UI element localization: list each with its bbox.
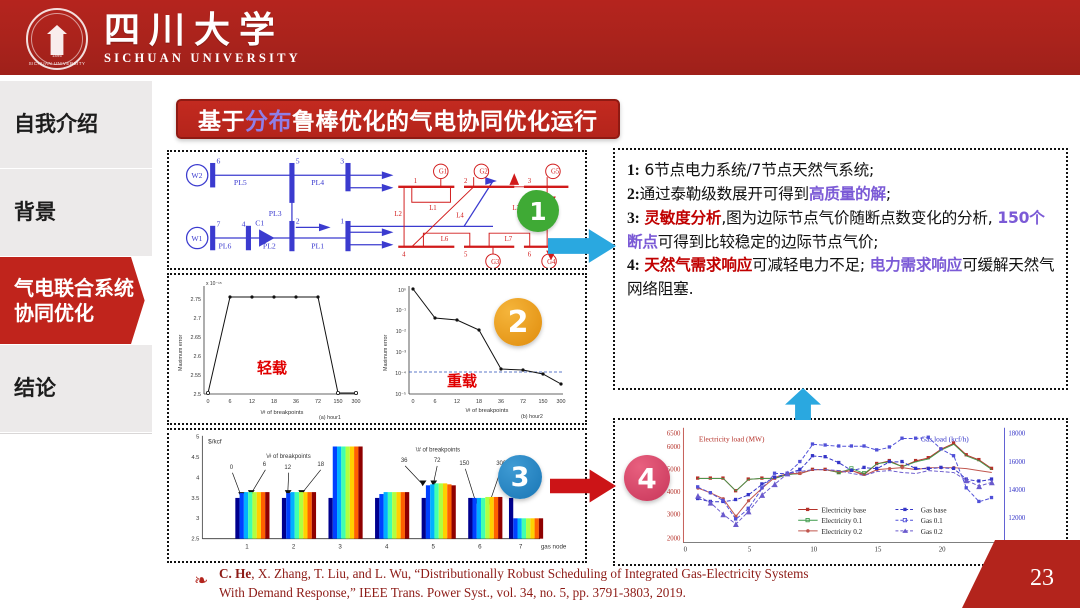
citation: C. He, X. Zhang, T. Liu, and L. Wu, “Dis…: [219, 564, 1009, 602]
svg-text:\# of breakpoints: \# of breakpoints: [266, 454, 310, 460]
svg-text:Maximum error: Maximum error: [383, 335, 389, 371]
light-load-caption: (a) hour1: [319, 415, 341, 421]
svg-text:2.55: 2.55: [191, 373, 202, 379]
sidebar-item-label: 自我介绍: [14, 112, 98, 138]
svg-text:Gas 0.1: Gas 0.1: [921, 517, 943, 525]
step-badge-4: 4: [624, 455, 670, 501]
svg-text:5: 5: [432, 543, 436, 550]
bar-group-node-6: [468, 497, 502, 539]
finding-text: 可得到比较稳定的边际节点气价;: [658, 233, 879, 251]
seal-year: 1896: [52, 53, 62, 58]
brand-name-cn: 四川大学: [104, 12, 301, 50]
svg-text:PL1: PL1: [311, 242, 324, 251]
flow-arrow: [382, 184, 394, 192]
sidebar-item-label: 背景: [14, 200, 56, 226]
light-load-error-chart-svg: 2.52.552.6 2.652.72.75 x 10⁻¹⁵ Maximum e…: [172, 276, 377, 424]
load-chart-legend: Electricity base Electricity 0.1 Electri…: [798, 506, 946, 535]
svg-text:12000: 12000: [1008, 515, 1026, 522]
svg-text:20: 20: [939, 546, 946, 553]
svg-text:G4: G4: [547, 259, 556, 266]
heavy-load-error-chart-svg: 10⁰10⁻¹10⁻² 10⁻³10⁻⁴10⁻⁵ Maximum error 0…: [377, 276, 582, 424]
svg-text:6: 6: [478, 543, 482, 550]
svg-text:18: 18: [476, 399, 482, 405]
svg-text:PL3: PL3: [269, 209, 282, 218]
citation-marker-icon: ❧: [194, 571, 208, 591]
bar-group-node-5: [422, 483, 456, 538]
svg-text:3: 3: [528, 178, 532, 185]
finding-item-4: 4: 天然气需求响应可减轻电力不足; 电力需求响应可缓解天然气网络阻塞.: [627, 254, 1055, 302]
svg-text:15: 15: [875, 546, 882, 553]
sidebar-nav: 自我介绍 背景 气电联合系统协同优化 结论: [0, 81, 152, 608]
heavy-load-caption: (b) hour2: [521, 414, 543, 420]
sidebar-item-label: 气电联合系统协同优化: [14, 276, 152, 325]
svg-text:Gas 0.2: Gas 0.2: [921, 528, 943, 536]
svg-text:Electricity 0.2: Electricity 0.2: [822, 528, 863, 536]
flow-arrow: [382, 171, 394, 179]
sidebar-item-gas-electricity-optimization[interactable]: 气电联合系统协同优化: [0, 257, 152, 345]
svg-text:PL5: PL5: [234, 178, 247, 187]
svg-text:72: 72: [315, 399, 321, 405]
step-badge-3: 3: [498, 455, 542, 499]
bar-group-node-7: [509, 498, 543, 539]
finding-number: 3:: [627, 210, 640, 227]
svg-text:6500: 6500: [667, 431, 681, 438]
step-badge-2: 2: [494, 298, 542, 346]
svg-text:W1: W1: [191, 234, 202, 243]
svg-text:6: 6: [229, 399, 232, 405]
svg-text:Electricity 0.1: Electricity 0.1: [822, 517, 863, 525]
svg-text:\# of breakpoints: \# of breakpoints: [416, 447, 460, 453]
svg-text:10⁻²: 10⁻²: [396, 329, 407, 335]
svg-text:6000: 6000: [667, 444, 681, 451]
svg-text:0: 0: [412, 399, 415, 405]
svg-text:\# of breakpoints: \# of breakpoints: [261, 410, 304, 416]
step-badge-1: 1: [517, 190, 559, 232]
svg-text:2.7: 2.7: [194, 316, 202, 322]
page-title: 基于分布鲁棒优化的气电协同优化运行: [198, 102, 598, 136]
slide-title-banner: 基于分布鲁棒优化的气电协同优化运行: [176, 99, 620, 139]
flow-arrow: [382, 241, 394, 249]
finding-item-2: 2:通过泰勒级数展开可得到高质量的解;: [627, 183, 1055, 207]
svg-text:L4: L4: [456, 213, 464, 220]
svg-text:2.5: 2.5: [191, 537, 199, 543]
bar-group-node-1: [235, 492, 269, 539]
svg-text:10: 10: [810, 546, 817, 553]
svg-text:L1: L1: [429, 205, 437, 212]
svg-text:150: 150: [459, 461, 470, 467]
svg-text:2.65: 2.65: [191, 335, 202, 341]
findings-text-panel: 1: 6节点电力系统/7节点天然气系统; 2:通过泰勒级数展开可得到高质量的解;…: [613, 148, 1068, 390]
finding-number: 1:: [627, 162, 640, 179]
light-load-label: 轻载: [257, 357, 287, 378]
svg-text:1: 1: [245, 543, 249, 550]
svg-text:5: 5: [296, 157, 300, 166]
svg-text:14000: 14000: [1008, 487, 1026, 494]
finding-highlight-purple: 高质量的解: [809, 185, 886, 203]
svg-text:12: 12: [454, 399, 460, 405]
findings-list: 1: 6节点电力系统/7节点天然气系统; 2:通过泰勒级数展开可得到高质量的解;…: [615, 150, 1066, 302]
svg-text:10⁻³: 10⁻³: [396, 350, 407, 356]
citation-author: C. He: [219, 566, 251, 581]
svg-text:L6: L6: [441, 236, 449, 243]
svg-text:5: 5: [196, 435, 199, 441]
svg-text:2: 2: [292, 543, 296, 550]
svg-text:36: 36: [401, 458, 408, 464]
svg-text:4: 4: [196, 475, 200, 481]
brand-name-en: SICHUAN UNIVERSITY: [104, 51, 301, 66]
svg-text:5: 5: [748, 546, 752, 553]
svg-text:18000: 18000: [1008, 431, 1026, 438]
slide-header: 1896 SICHUAN UNIVERSITY 四川大学 SICHUAN UNI…: [0, 0, 1080, 78]
svg-text:0: 0: [684, 546, 688, 553]
citation-line1: , X. Zhang, T. Liu, and L. Wu, “Distribu…: [251, 566, 808, 581]
svg-text:6: 6: [217, 157, 221, 166]
university-seal-icon: 1896 SICHUAN UNIVERSITY: [26, 8, 88, 70]
svg-text:4000: 4000: [667, 489, 681, 496]
citation-line2: With Demand Response,” IEEE Trans. Power…: [219, 583, 1009, 602]
svg-text:10⁰: 10⁰: [398, 288, 406, 294]
bar-group-node-2: [282, 492, 316, 539]
flow-arrow: [382, 228, 394, 236]
breakpoint-error-charts-panel: 2.52.552.6 2.652.72.75 x 10⁻¹⁵ Maximum e…: [167, 273, 587, 425]
svg-text:Maximum error: Maximum error: [178, 335, 184, 371]
finding-number: 2:: [627, 186, 640, 203]
title-suffix: 鲁棒优化的气电协同优化运行: [292, 109, 598, 135]
svg-text:7: 7: [519, 543, 523, 550]
arrow-up-to-text-icon: [785, 388, 821, 420]
svg-text:6: 6: [263, 462, 267, 468]
finding-highlight-red: 灵敏度分析: [644, 209, 721, 227]
svg-text:72: 72: [434, 458, 441, 464]
svg-text:6: 6: [528, 251, 532, 258]
svg-text:2000: 2000: [667, 536, 681, 543]
bar-group-node-3: [328, 446, 362, 538]
sidebar-item-background[interactable]: 背景: [0, 169, 152, 257]
svg-text:$/kcf: $/kcf: [208, 439, 222, 446]
svg-text:PL2: PL2: [263, 242, 276, 251]
svg-text:4: 4: [385, 543, 389, 550]
svg-text:18: 18: [271, 399, 277, 405]
svg-text:2: 2: [296, 217, 300, 226]
svg-text:PL4: PL4: [311, 178, 324, 187]
svg-text:2.5: 2.5: [194, 392, 202, 398]
svg-text:G5: G5: [551, 168, 560, 175]
load-arrow-up: [509, 173, 519, 185]
svg-text:L7: L7: [505, 236, 513, 243]
sidebar-item-self-intro[interactable]: 自我介绍: [0, 81, 152, 169]
svg-text:4: 4: [402, 251, 406, 258]
svg-text:72: 72: [520, 399, 526, 405]
svg-text:18: 18: [317, 462, 324, 468]
finding-text: 可减轻电力不足;: [752, 256, 870, 274]
svg-text:\# of breakpoints: \# of breakpoints: [466, 408, 509, 414]
finding-highlight-purple: 电力需求响应: [870, 256, 962, 274]
title-prefix: 基于: [198, 109, 245, 135]
series-gas-02: [698, 470, 992, 524]
svg-text:0: 0: [207, 399, 210, 405]
flow-arrow: [319, 224, 331, 232]
finding-item-3: 3: 灵敏度分析,图为边际节点气价随断点数变化的分析, 150个断点可得到比较稳…: [627, 207, 1055, 255]
finding-number: 4:: [627, 257, 640, 274]
page-number: 23: [1030, 565, 1054, 592]
sidebar-divider: [0, 433, 152, 434]
svg-text:L2: L2: [394, 211, 402, 218]
svg-text:1: 1: [340, 217, 344, 226]
svg-text:2.75: 2.75: [191, 297, 202, 303]
svg-text:G2: G2: [479, 168, 487, 175]
svg-text:0: 0: [230, 465, 234, 471]
bar-group-node-4: [375, 492, 409, 539]
svg-text:3: 3: [338, 543, 342, 550]
title-highlight: 分布: [245, 109, 292, 135]
university-branding: 1896 SICHUAN UNIVERSITY 四川大学 SICHUAN UNI…: [26, 8, 301, 70]
svg-text:PL6: PL6: [218, 242, 231, 251]
svg-text:C1: C1: [255, 218, 264, 227]
sidebar-item-label: 结论: [14, 376, 56, 402]
svg-text:12: 12: [284, 465, 291, 471]
svg-text:5: 5: [464, 251, 468, 258]
sidebar-item-conclusion[interactable]: 结论: [0, 345, 152, 433]
finding-text: 6节点电力系统/7节点天然气系统;: [640, 161, 874, 179]
svg-text:x 10⁻¹⁵: x 10⁻¹⁵: [206, 281, 222, 287]
finding-text: ;: [886, 185, 891, 203]
svg-text:2.6: 2.6: [194, 354, 202, 360]
svg-text:36: 36: [498, 399, 504, 405]
svg-text:2: 2: [464, 178, 467, 185]
finding-item-1: 1: 6节点电力系统/7节点天然气系统;: [627, 159, 1055, 183]
svg-text:7: 7: [217, 219, 221, 228]
svg-text:4: 4: [242, 219, 246, 228]
svg-text:36: 36: [293, 399, 299, 405]
svg-text:300: 300: [557, 399, 566, 405]
svg-text:3: 3: [340, 157, 344, 166]
svg-text:Electricity base: Electricity base: [822, 506, 867, 514]
finding-text: 通过泰勒级数展开可得到: [640, 185, 809, 203]
svg-text:3: 3: [196, 516, 199, 522]
svg-text:10⁻⁵: 10⁻⁵: [395, 392, 406, 398]
series-gas-base: [698, 456, 992, 502]
svg-text:4.5: 4.5: [191, 455, 199, 461]
svg-text:gas node: gas node: [541, 543, 567, 550]
svg-text:150: 150: [334, 399, 343, 405]
finding-highlight-red: 天然气需求响应: [644, 256, 752, 274]
svg-text:150: 150: [539, 399, 548, 405]
svg-text:16000: 16000: [1008, 459, 1026, 466]
svg-text:10⁻¹: 10⁻¹: [396, 308, 407, 314]
svg-text:G1: G1: [439, 168, 447, 175]
finding-text: ,图为边际节点气价随断点数变化的分析,: [721, 209, 997, 227]
left-axis-title: Electricity load (MW): [699, 434, 765, 443]
seal-arc-text: SICHUAN UNIVERSITY: [29, 61, 86, 66]
svg-text:6: 6: [434, 399, 437, 405]
svg-text:1: 1: [414, 178, 417, 185]
svg-text:12: 12: [249, 399, 255, 405]
svg-text:Gas base: Gas base: [921, 506, 947, 514]
svg-text:10⁻⁴: 10⁻⁴: [395, 371, 406, 377]
svg-text:G3: G3: [491, 259, 500, 266]
svg-text:3.5: 3.5: [191, 496, 199, 502]
svg-text:W2: W2: [191, 171, 202, 180]
svg-text:3000: 3000: [667, 511, 681, 518]
heavy-load-label: 重载: [447, 370, 477, 391]
svg-text:300: 300: [352, 399, 361, 405]
